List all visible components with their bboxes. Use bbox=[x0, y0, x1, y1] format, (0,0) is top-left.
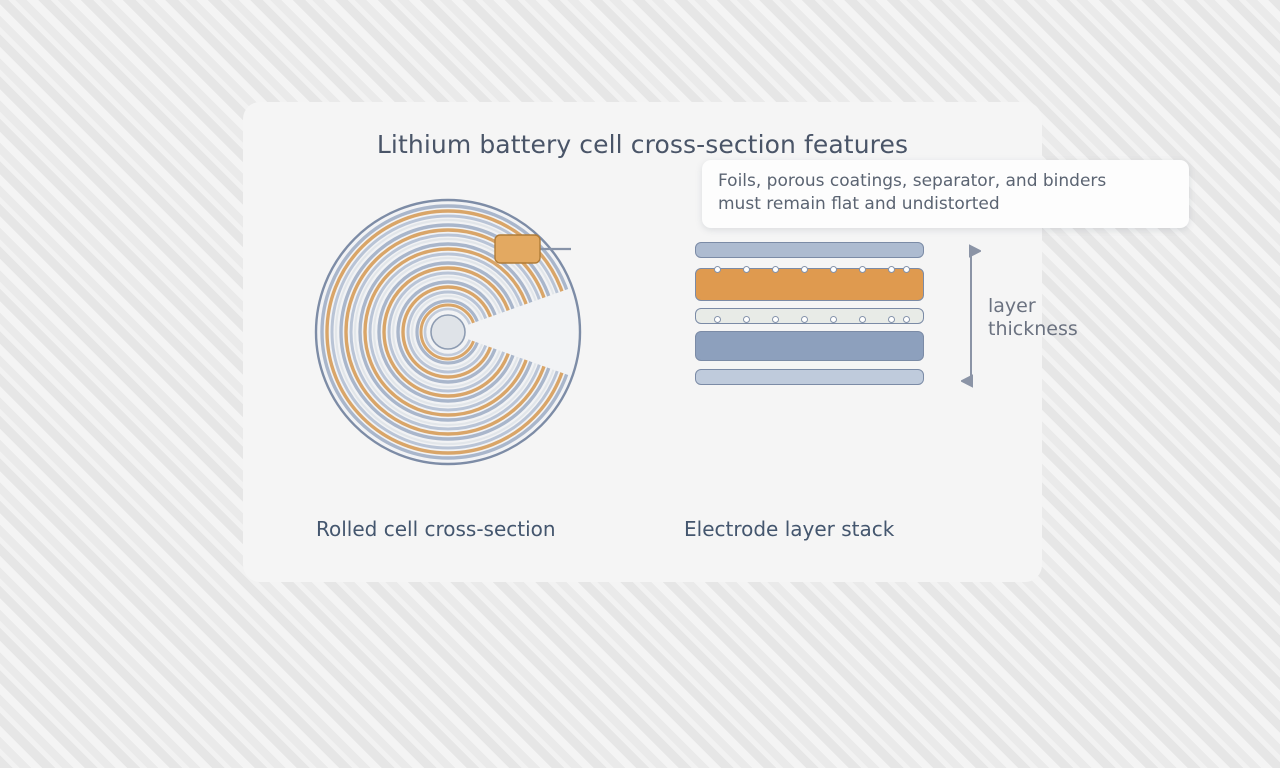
rolled-cell-diagram bbox=[303, 182, 603, 482]
layer-thickness-label-line2: thickness bbox=[988, 318, 1078, 341]
layer-thickness-label: layer thickness bbox=[988, 295, 1078, 341]
annotation-tooltip: Foils, porous coatings, separator, and b… bbox=[702, 160, 1189, 228]
layer-bottom-foil bbox=[695, 369, 924, 385]
layer-cathode-coating bbox=[695, 268, 924, 301]
layer-anode-coating bbox=[695, 331, 924, 361]
electrode-layer-stack bbox=[695, 242, 927, 394]
page-title: Lithium battery cell cross-section featu… bbox=[243, 130, 1042, 159]
layer-separator bbox=[695, 308, 924, 324]
tooltip-line-2: must remain flat and undistorted bbox=[718, 193, 1173, 216]
mandrel-hub bbox=[431, 315, 465, 349]
layer-thickness-label-line1: layer bbox=[988, 295, 1078, 318]
caption-electrode-stack: Electrode layer stack bbox=[684, 517, 894, 541]
current-collector-tab bbox=[495, 235, 540, 263]
cathode-porosity-dots bbox=[696, 269, 923, 300]
tooltip-line-1: Foils, porous coatings, separator, and b… bbox=[718, 170, 1173, 193]
layer-thickness-arrow-icon bbox=[961, 240, 981, 392]
separator-porosity-dots bbox=[696, 309, 923, 323]
caption-rolled-cell: Rolled cell cross-section bbox=[316, 517, 556, 541]
layer-top-foil bbox=[695, 242, 924, 258]
rolled-cell-svg bbox=[303, 182, 603, 482]
